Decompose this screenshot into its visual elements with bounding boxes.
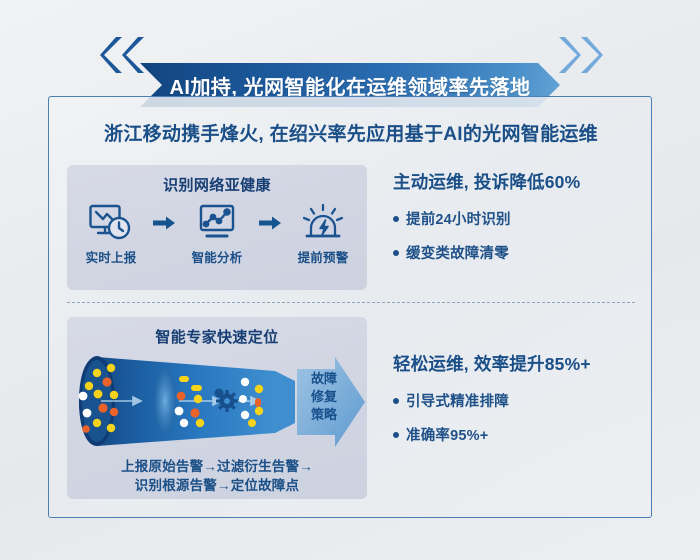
funnel-caption-line-1: 上报原始告警→过滤衍生告警→	[67, 457, 367, 476]
list-item: 提前24小时识别	[393, 208, 635, 229]
bullet-text: 缓变类故障清零	[406, 242, 509, 263]
content-frame: 浙江移动携手烽火, 在绍兴率先应用基于AI的光网智能运维 识别网络亚健康	[48, 96, 652, 518]
card-title: 识别网络亚健康	[67, 165, 367, 195]
list-item: 缓变类故障清零	[393, 242, 635, 263]
funnel-caption-line-2: 识别根源告警→定位故障点	[67, 476, 367, 495]
benefit-bullet-list: 引导式精准排障 准确率95%+	[393, 390, 635, 445]
flow-step-label: 实时上报	[74, 247, 148, 266]
benefits-proactive-ops: 主动运维, 投诉降低60% 提前24小时识别 缓变类故障清零	[367, 165, 635, 293]
flow-step-realtime-report: 实时上报	[74, 201, 148, 266]
svg-text:故障: 故障	[311, 371, 337, 386]
flow-step-smart-analysis: 智能分析	[180, 201, 254, 266]
benefits-easy-ops: 轻松运维, 效率提升85%+ 引导式精准排障 准确率95%+	[367, 317, 635, 505]
chart-monitor-icon	[180, 201, 254, 245]
benefit-headline: 轻松运维, 效率提升85%+	[393, 351, 635, 376]
bullet-text: 引导式精准排障	[406, 390, 509, 411]
svg-text:修复: 修复	[310, 389, 338, 404]
flow-step-label: 智能分析	[180, 247, 254, 266]
section-expert-locating: 智能专家快速定位	[67, 317, 635, 505]
arrow-right-icon	[258, 201, 282, 245]
chevron-right-icon	[577, 36, 603, 74]
alarm-light-icon	[286, 201, 360, 245]
arrow-right-icon	[152, 201, 176, 245]
funnel-caption: 上报原始告警→过滤衍生告警→ 识别根源告警→定位故障点	[67, 457, 367, 495]
card-expert-locating: 智能专家快速定位	[67, 317, 367, 499]
bullet-dot-icon	[393, 398, 399, 404]
benefit-bullet-list: 提前24小时识别 缓变类故障清零	[393, 208, 635, 263]
flow-step-label: 提前预警	[286, 247, 360, 266]
card-title: 智能专家快速定位	[67, 317, 367, 347]
page-title: 浙江移动携手烽火, 在绍兴率先应用基于AI的光网智能运维	[49, 119, 653, 146]
list-item: 准确率95%+	[393, 424, 635, 445]
benefit-headline: 主动运维, 投诉降低60%	[393, 169, 635, 194]
card-identify-subhealth: 识别网络亚健康 实	[67, 165, 367, 290]
flow-steps: 实时上报	[67, 201, 367, 266]
bullet-text: 准确率95%+	[406, 424, 488, 445]
monitor-clock-icon	[74, 201, 148, 245]
bullet-dot-icon	[393, 250, 399, 256]
header-banner-area: AI加持, 光网智能化在运维领域率先落地	[0, 30, 700, 80]
flow-step-early-warning: 提前预警	[286, 201, 360, 266]
section-divider	[67, 302, 635, 303]
bullet-text: 提前24小时识别	[406, 208, 511, 229]
list-item: 引导式精准排障	[393, 390, 635, 411]
svg-text:策略: 策略	[311, 407, 338, 422]
bullet-dot-icon	[393, 216, 399, 222]
alarm-funnel-icon: 故障 修复 策略	[67, 349, 367, 459]
chevron-left-icon	[122, 36, 148, 74]
section-identify-subhealth: 识别网络亚健康 实	[67, 165, 635, 293]
bullet-dot-icon	[393, 432, 399, 438]
